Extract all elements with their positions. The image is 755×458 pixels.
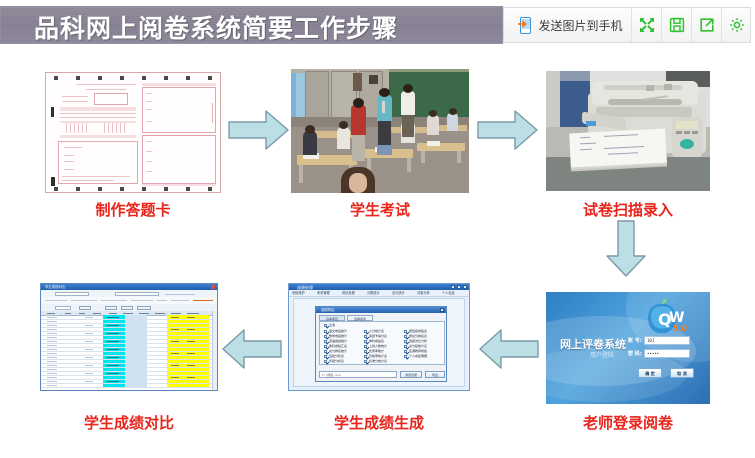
step-5-caption: 学生成绩生成	[288, 412, 470, 433]
cb-label: 数学成绩统计	[329, 335, 347, 339]
cb-label: 单科成绩表	[369, 340, 384, 344]
menu-item-0[interactable]: 系统维护	[292, 291, 305, 295]
svg-text:5.0: 5.0	[673, 324, 688, 333]
dialog-close-icon[interactable]	[440, 308, 444, 312]
export-path-input[interactable]: C:\成绩.xls	[319, 371, 397, 378]
export-dialog: 成绩导出 基本项目 选择条件 全选 语文成绩统计 数学成绩统计 英语成绩统计 各…	[315, 306, 447, 382]
arrow-3	[605, 220, 647, 278]
grades-window-title: 学生成绩对比	[45, 285, 65, 290]
cb-label: 个人成绩明细	[409, 355, 427, 359]
menu-item-1[interactable]: 考务管理	[317, 291, 330, 295]
arrow-2	[477, 109, 539, 151]
dialog-titlebar: 成绩导出	[316, 307, 446, 313]
cb-label: 按班级成绩表	[409, 330, 427, 334]
dialog-title: 成绩导出	[321, 308, 335, 313]
arrow-5	[222, 329, 282, 369]
grade-compare-table-image[interactable]: 学生成绩对比	[40, 283, 218, 391]
step-1-caption: 制作答题卡	[45, 199, 221, 220]
cb-label: 上线人数统计	[369, 345, 387, 349]
cb-label: 班级对比分析	[409, 340, 427, 344]
menu-bar[interactable]: 系统维护 考务管理 成绩处理 分数统计 总分统计 试卷分析 个人信息	[289, 290, 469, 297]
step-4-caption: 老师登录阅卷	[546, 412, 710, 433]
cb-label: 答题卡得分表	[369, 335, 387, 339]
menu-item-3[interactable]: 分数统计	[367, 291, 380, 295]
checkbox-select-all-label: 全选	[329, 324, 335, 328]
cb-label: 小分统计表	[369, 330, 384, 334]
toolbar-button-1[interactable]	[79, 306, 91, 310]
account-input[interactable]: 101	[644, 336, 690, 345]
cb-label: 各科成绩汇总	[329, 345, 347, 349]
account-label: 账 号:	[628, 337, 642, 344]
filter-input-2[interactable]	[115, 292, 159, 296]
menu-item-5[interactable]: 试卷分析	[417, 291, 430, 295]
cb-label: 班级分析表	[329, 355, 344, 359]
cb-label: 任课教师成绩	[409, 350, 427, 354]
filter-input-1[interactable]	[55, 292, 89, 296]
toolbar-button-2[interactable]	[105, 306, 117, 310]
cb-label: 标准分统计表	[369, 360, 387, 364]
expand-arrows-icon	[639, 17, 655, 33]
export-button[interactable]: 导出	[425, 371, 445, 378]
gear-icon	[729, 17, 745, 33]
step-2-caption: 学生考试	[291, 199, 469, 220]
document-scanner-photo[interactable]	[546, 71, 710, 191]
vertical-scrollbar[interactable]	[212, 311, 217, 390]
cb-label: 优秀率统计	[369, 350, 384, 354]
login-screen-image[interactable]: Q W 5.0 网上评卷系统 用户登陆 账 号: 101 密 码: ••••• …	[546, 292, 710, 404]
floppy-disk-icon	[669, 17, 685, 33]
app-logo-icon: Q W 5.0	[642, 298, 688, 338]
save-button[interactable]	[662, 8, 692, 42]
phone-with-arrow-icon	[518, 17, 533, 34]
cb-label: 及格率统计表	[369, 355, 387, 359]
password-label: 密 码:	[628, 350, 642, 357]
toolbar-button-4[interactable]	[137, 306, 151, 310]
login-cancel-button[interactable]: 取 消	[670, 368, 694, 378]
cb-label: 总分段统计表	[409, 345, 427, 349]
menu-item-4[interactable]: 总分统计	[392, 291, 405, 295]
browse-button[interactable]: 浏览目录	[400, 371, 422, 378]
grades-close-icon[interactable]	[211, 285, 215, 289]
send-to-phone-label: 发送图片到手机	[538, 17, 622, 34]
checkbox-select-all[interactable]	[324, 324, 327, 327]
classroom-exam-photo[interactable]	[291, 69, 469, 193]
share-export-icon	[699, 17, 715, 33]
cb-label: 总分排名统计	[329, 350, 347, 354]
menu-item-2[interactable]: 成绩处理	[342, 291, 355, 295]
password-input[interactable]: •••••	[644, 349, 690, 358]
step-3-caption: 试卷扫描录入	[546, 199, 710, 220]
fullscreen-button[interactable]	[632, 8, 662, 42]
grade-select[interactable]	[55, 306, 71, 310]
title-bar: 品科网上阅卷系统简要工作步骤	[0, 6, 503, 44]
window-title: 成绩处理	[297, 285, 313, 290]
cb-label: 年级分析表	[329, 360, 344, 364]
arrow-4	[479, 329, 539, 369]
cb-label: 英语成绩统计	[329, 340, 347, 344]
cb-label: 语文成绩统计	[329, 330, 347, 334]
send-to-phone-button[interactable]: 发送图片到手机	[504, 8, 632, 42]
login-ok-button[interactable]: 确 定	[638, 368, 662, 378]
menu-item-6[interactable]: 个人信息	[442, 291, 455, 295]
step-6-caption: 学生成绩对比	[40, 412, 218, 433]
share-button[interactable]	[692, 8, 722, 42]
toolbar: 发送图片到手机	[503, 7, 751, 43]
toolbar-button-3[interactable]	[121, 306, 133, 310]
grade-generate-dialog-image[interactable]: 成绩处理 系统维护 考务管理 成绩处理 分数统计 总分统计 试卷分析 个人信息 …	[288, 283, 470, 391]
arrow-1	[228, 109, 290, 151]
page-title: 品科网上阅卷系统简要工作步骤	[34, 9, 398, 45]
cb-label: 按总分排名表	[409, 335, 427, 339]
settings-button[interactable]	[722, 8, 752, 42]
login-sub-title: 用户登陆	[590, 350, 614, 359]
